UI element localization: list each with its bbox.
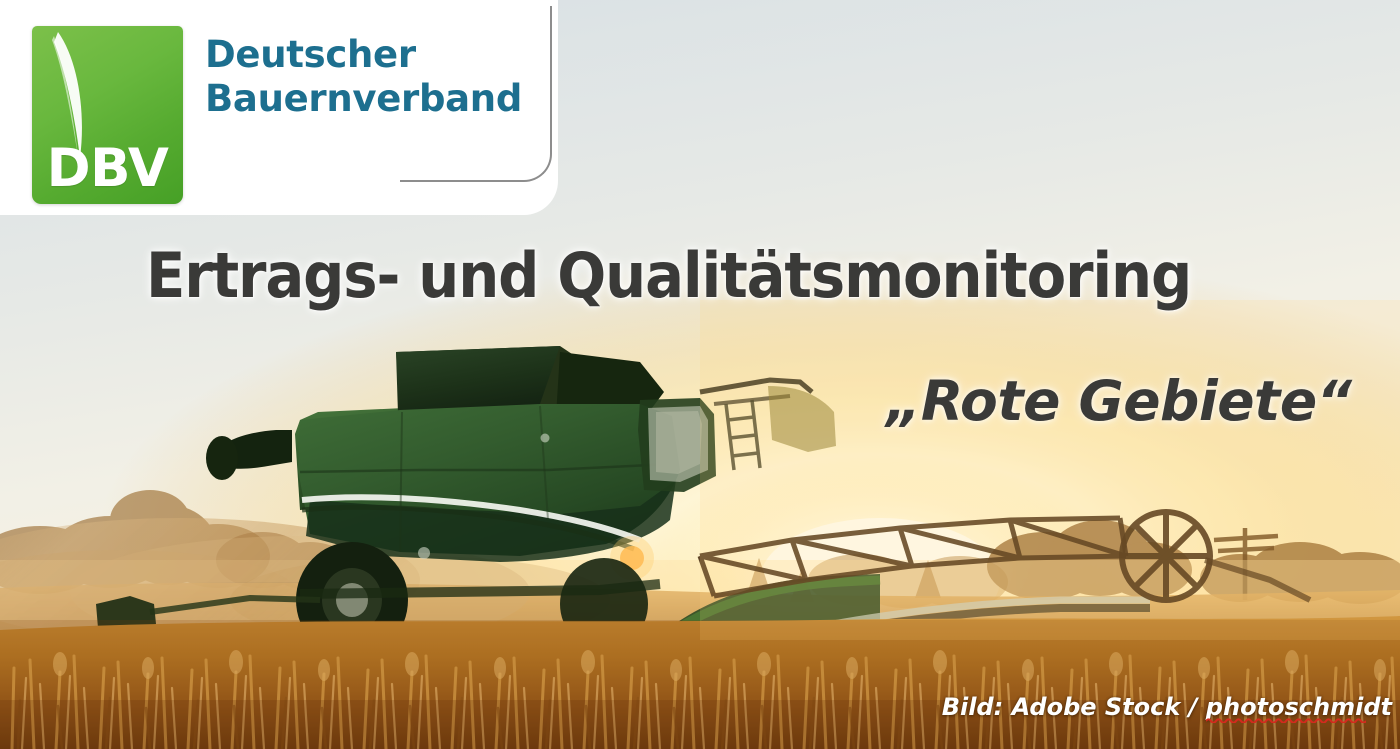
dbv-logo-text: DBV xyxy=(32,142,183,195)
slide-canvas: DBV Deutscher Bauernverband Ertrags- und… xyxy=(0,0,1400,749)
dbv-wordmark[interactable]: Deutscher Bauernverband xyxy=(205,33,522,121)
page-subtitle: „Rote Gebiete“ xyxy=(886,373,1352,431)
page-title: Ertrags- und Qualitätsmonitoring xyxy=(146,243,1191,308)
wordmark-line-2: Bauernverband xyxy=(205,77,522,121)
dbv-logo-mark[interactable]: DBV xyxy=(32,26,183,204)
wordmark-line-1: Deutscher xyxy=(205,33,416,76)
credit-prefix: Bild: Adobe Stock / xyxy=(942,693,1206,721)
image-credit: Bild: Adobe Stock / photoschmidt xyxy=(942,694,1392,720)
credit-photographer: photoschmidt xyxy=(1206,693,1392,721)
credit-photographer-wrapper: photoschmidt xyxy=(1206,694,1392,720)
